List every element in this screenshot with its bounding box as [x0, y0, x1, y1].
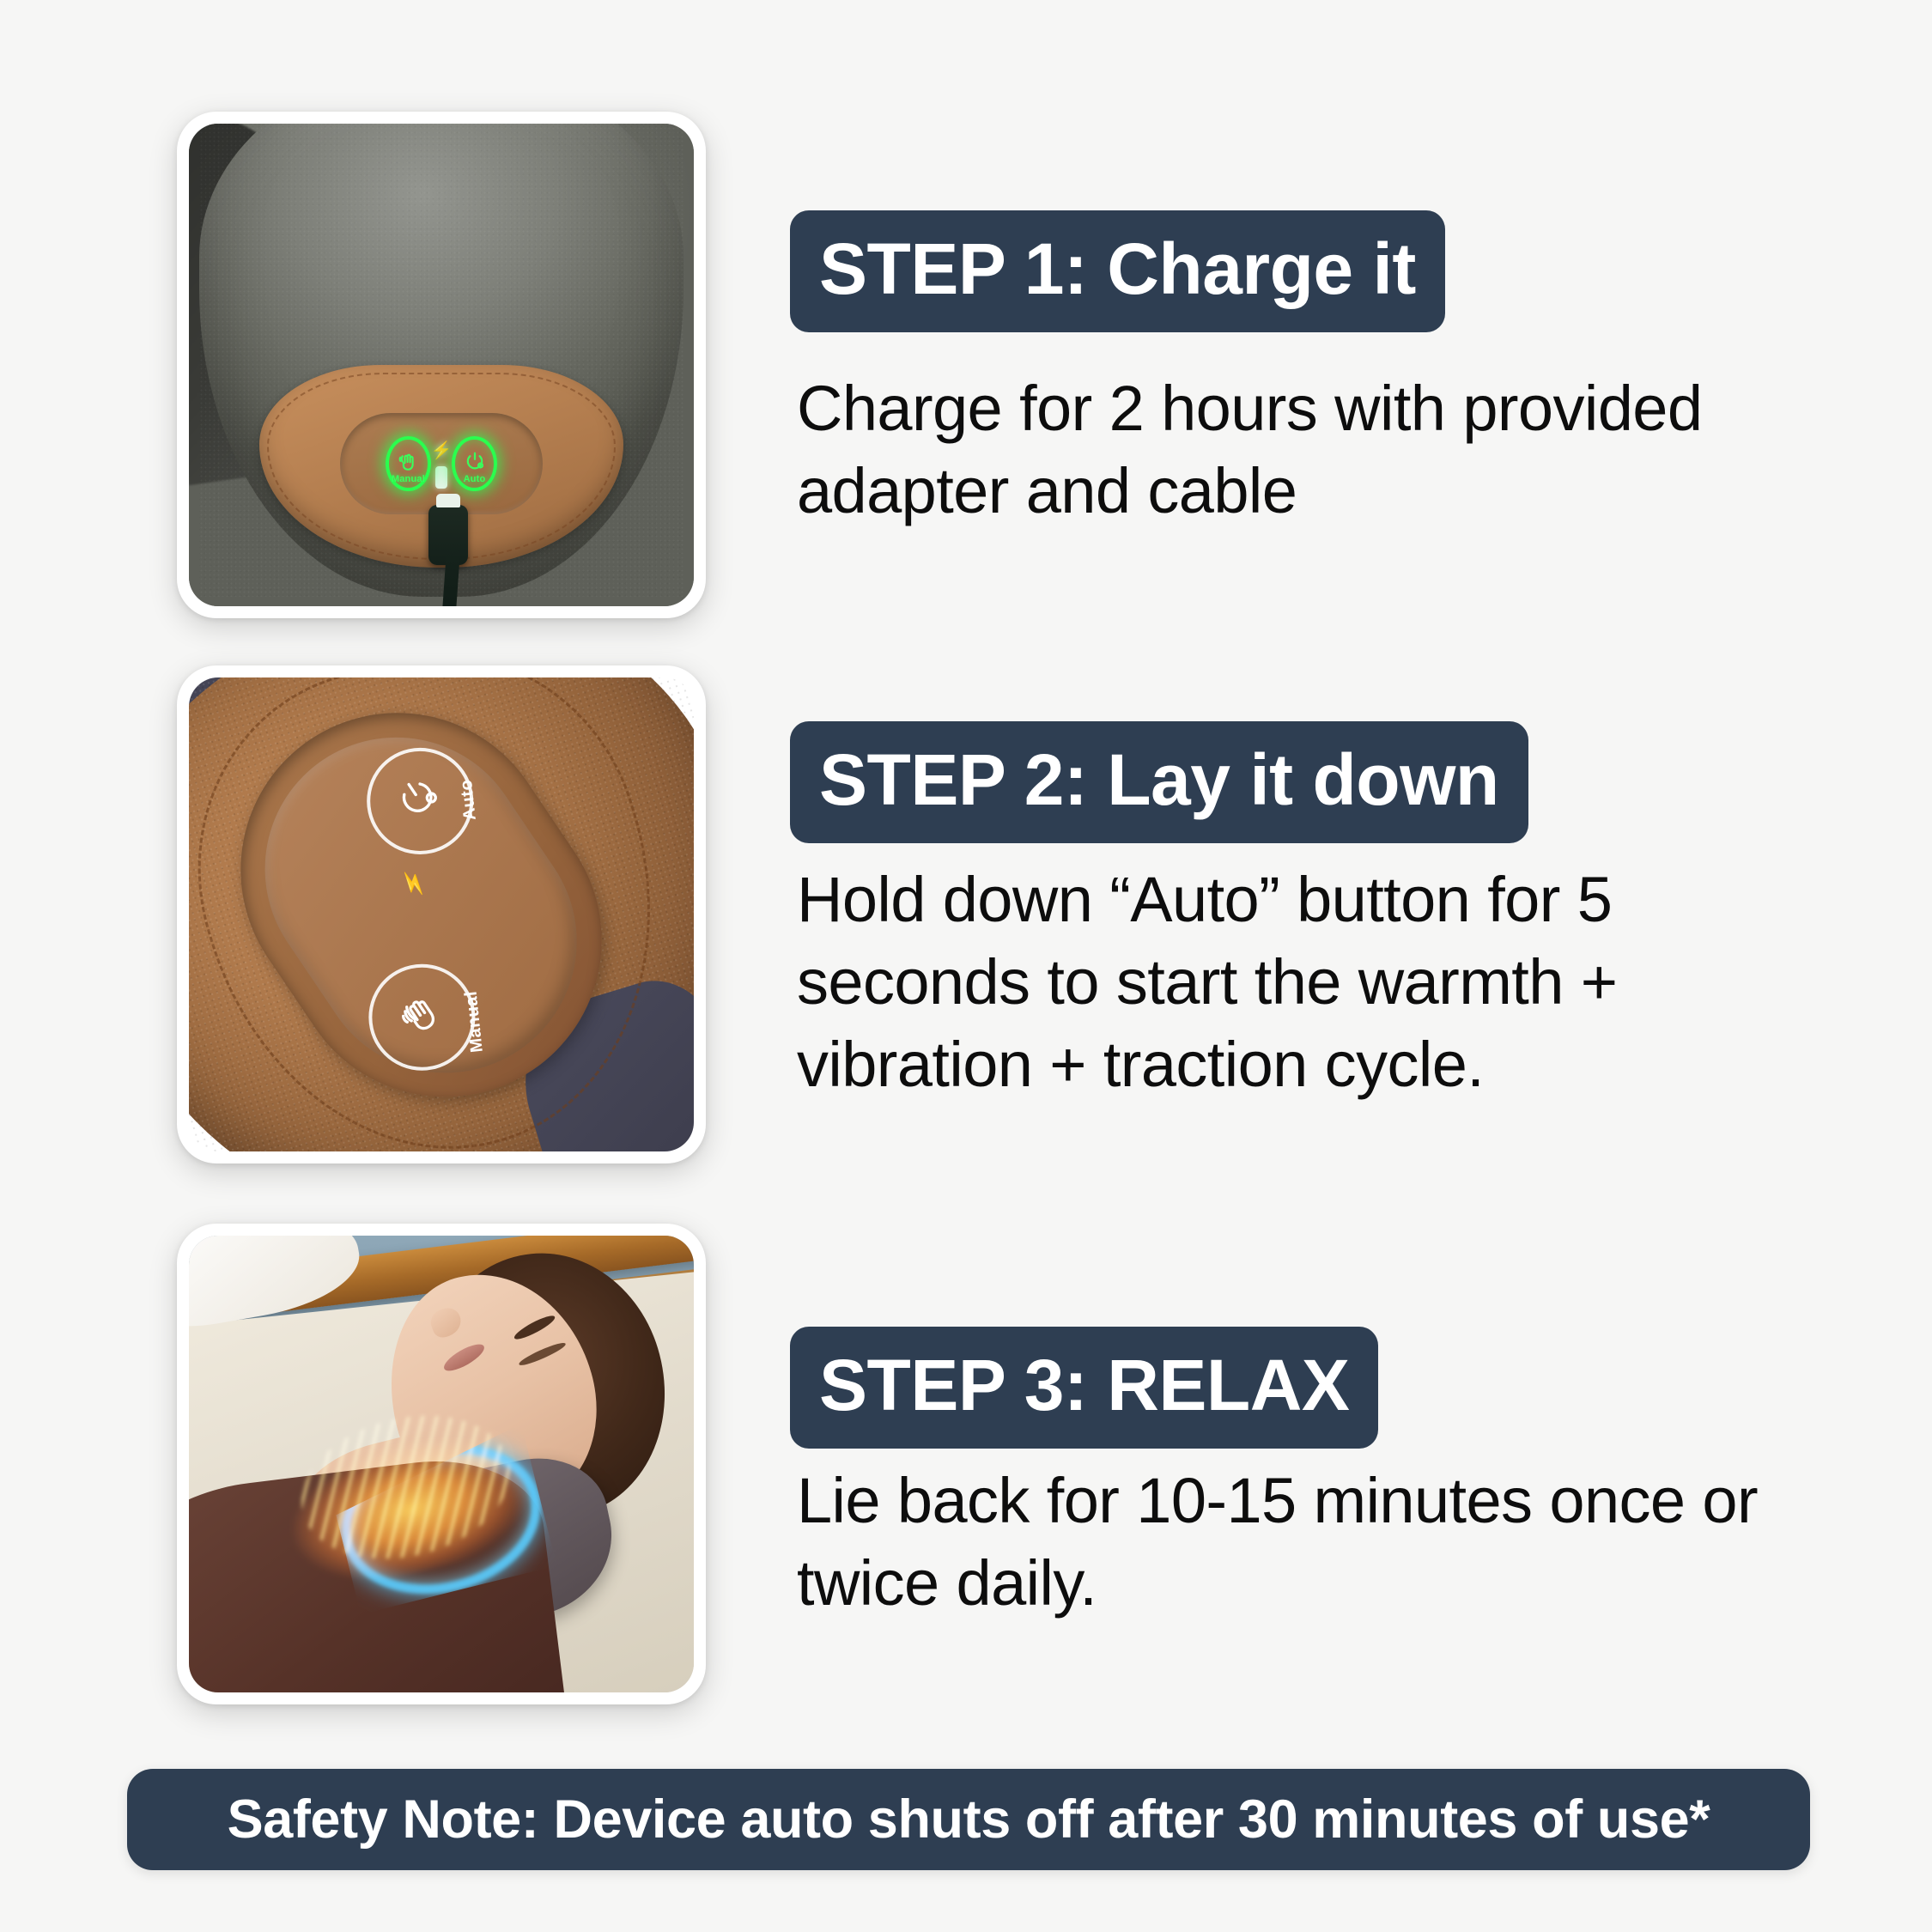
lightning-bolt-icon: ⚡ — [397, 866, 432, 902]
auto-button[interactable]: Auto — [452, 436, 496, 491]
auto-button-label: Auto — [464, 474, 486, 484]
step-3-badge: STEP 3: RELAX — [790, 1327, 1378, 1449]
step-2-photo: Auto ⚡ — [189, 677, 694, 1151]
power-timer-icon — [386, 766, 453, 836]
step-2-body: Hold down “Auto” button for 5 seconds to… — [797, 859, 1810, 1107]
manual-button[interactable]: Manual — [386, 436, 430, 491]
step-2-photo-card: Auto ⚡ — [177, 665, 706, 1163]
step-1-badge: STEP 1: Charge it — [790, 210, 1445, 332]
step-2-badge: STEP 2: Lay it down — [790, 721, 1528, 843]
step-1-body: Charge for 2 hours with provided adapter… — [797, 368, 1827, 532]
manual-button-label: Manual — [392, 474, 425, 484]
step-1-photo: Manual ⚡ Auto — [189, 124, 694, 606]
charge-indicator-group: ⚡ — [397, 866, 432, 902]
step-3-photo-card — [177, 1224, 706, 1704]
manual-button-label: Manual — [461, 990, 487, 1054]
step-3-photo — [189, 1236, 694, 1692]
usb-port-icon — [435, 466, 447, 489]
manual-button[interactable]: Manual — [348, 944, 495, 1091]
step-1-photo-card: Manual ⚡ Auto — [177, 112, 706, 618]
infographic-page: Manual ⚡ Auto — [0, 0, 1932, 1932]
step-3-body: Lie back for 10-15 minutes once or twice… — [797, 1460, 1827, 1625]
charge-indicator-group: ⚡ — [431, 440, 453, 489]
safety-note-banner: Safety Note: Device auto shuts off after… — [127, 1769, 1810, 1870]
auto-button-label: Auto — [457, 778, 481, 821]
lightning-bolt-icon: ⚡ — [431, 440, 453, 461]
vibration-hand-icon — [386, 981, 457, 1054]
auto-button[interactable]: Auto — [346, 727, 494, 875]
